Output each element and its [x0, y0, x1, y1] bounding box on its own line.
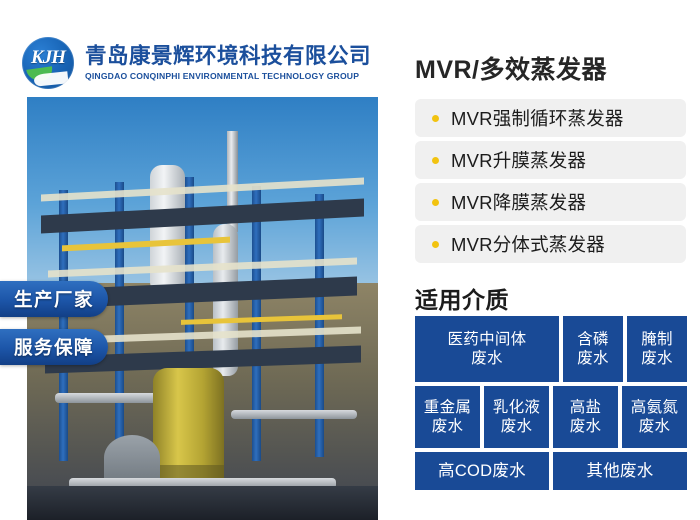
media-table-row: 重金属废水 乳化液废水 高盐废水 高氨氮废水	[415, 386, 687, 448]
photo-tank-band	[153, 465, 223, 478]
badge-service-guarantee: 服务保障	[0, 329, 108, 365]
feature-item[interactable]: MVR升膜蒸发器	[415, 141, 686, 179]
feature-item-label: MVR降膜蒸发器	[451, 189, 586, 215]
feature-item-label: MVR升膜蒸发器	[451, 147, 586, 173]
feature-item[interactable]: MVR强制循环蒸发器	[415, 99, 686, 137]
product-feature-list: MVR强制循环蒸发器 MVR升膜蒸发器 MVR降膜蒸发器 MVR分体式蒸发器	[415, 99, 686, 267]
left-column: KJH 青岛康景辉环境科技有限公司 QINGDAO CONQINPHI ENVI…	[0, 0, 392, 520]
media-table-row: 高COD废水 其他废水	[415, 452, 687, 490]
photo-steel-column	[252, 186, 261, 461]
media-cell[interactable]: 乳化液废水	[484, 386, 549, 448]
company-logo-icon: KJH	[22, 37, 74, 89]
media-cell[interactable]: 腌制废水	[627, 316, 687, 382]
promo-page: KJH 青岛康景辉环境科技有限公司 QINGDAO CONQINPHI ENVI…	[0, 0, 700, 520]
badge-service-guarantee-label: 服务保障	[14, 334, 94, 360]
media-cell[interactable]: 高氨氮废水	[622, 386, 687, 448]
media-cell[interactable]: 重金属废水	[415, 386, 480, 448]
media-table: 医药中间体废水 含磷废水 腌制废水 重金属废水 乳化液废水 高盐废水 高氨氮废水…	[415, 316, 687, 494]
feature-item[interactable]: MVR分体式蒸发器	[415, 225, 686, 263]
company-brand-header: KJH 青岛康景辉环境科技有限公司 QINGDAO CONQINPHI ENVI…	[22, 36, 388, 90]
photo-pipe	[231, 410, 357, 419]
product-title: MVR/多效蒸发器	[415, 50, 607, 86]
media-section-title: 适用介质	[415, 281, 509, 315]
badge-manufacturer: 生产厂家	[0, 281, 108, 317]
media-cell[interactable]: 高COD废水	[415, 452, 549, 490]
media-table-row: 医药中间体废水 含磷废水 腌制废水	[415, 316, 687, 382]
bullet-dot-icon	[432, 115, 439, 122]
media-cell[interactable]: 医药中间体废水	[415, 316, 559, 382]
bullet-dot-icon	[432, 157, 439, 164]
bullet-dot-icon	[432, 241, 439, 248]
right-column: MVR/多效蒸发器 MVR强制循环蒸发器 MVR升膜蒸发器 MVR降膜蒸发器 M…	[410, 0, 690, 520]
bullet-dot-icon	[432, 199, 439, 206]
company-name-cn: 青岛康景辉环境科技有限公司	[85, 44, 371, 68]
company-name-en: QINGDAO CONQINPHI ENVIRONMENTAL TECHNOLO…	[85, 70, 371, 82]
media-cell[interactable]: 高盐废水	[553, 386, 618, 448]
feature-item-label: MVR分体式蒸发器	[451, 231, 605, 257]
company-name-block: 青岛康景辉环境科技有限公司 QINGDAO CONQINPHI ENVIRONM…	[85, 44, 371, 82]
photo-foreground	[27, 486, 378, 520]
logo-monogram-text: KJH	[22, 47, 74, 69]
media-cell[interactable]: 其他废水	[553, 452, 687, 490]
feature-item[interactable]: MVR降膜蒸发器	[415, 183, 686, 221]
feature-item-label: MVR强制循环蒸发器	[451, 105, 624, 131]
badge-manufacturer-label: 生产厂家	[14, 286, 94, 312]
media-cell[interactable]: 含磷废水	[563, 316, 623, 382]
